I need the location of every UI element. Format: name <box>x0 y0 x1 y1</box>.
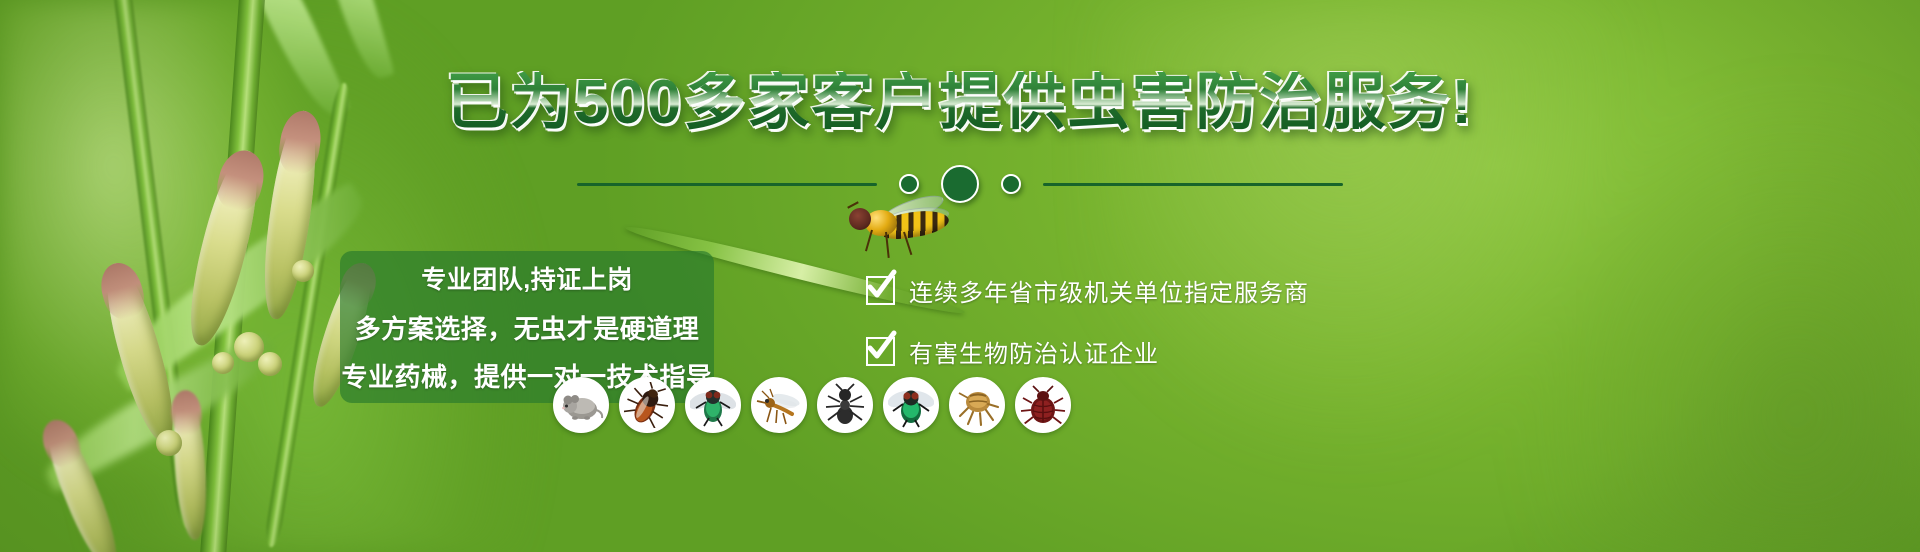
greenbottle-fly-icon[interactable] <box>883 377 939 433</box>
divider-line-right <box>1043 183 1343 186</box>
mouse-icon[interactable] <box>553 377 609 433</box>
cockroach-icon[interactable] <box>619 377 675 433</box>
claim-line-2: 多方案选择，无虫才是硬道理 <box>355 309 700 346</box>
pest-icon-strip <box>553 377 1071 433</box>
pest-control-hero-banner: 已为500多家客户提供虫害防治服务! 专业团队,持证上岗 多方案选择，无虫才是硬… <box>0 0 1920 552</box>
checklist-item: 连续多年省市级机关单位指定服务商 <box>866 273 1309 308</box>
checklist-item-label: 连续多年省市级机关单位指定服务商 <box>909 273 1309 308</box>
hoverfly-icon <box>845 198 965 264</box>
checklist-item: 有害生物防治认证企业 <box>866 334 1309 369</box>
claim-line-1: 专业团队,持证上岗 <box>421 260 632 296</box>
mosquito-icon[interactable] <box>751 377 807 433</box>
divider-dot-small-right <box>1001 174 1021 194</box>
certification-checklist: 连续多年省市级机关单位指定服务商 有害生物防治认证企业 <box>866 273 1309 369</box>
bedbug-icon[interactable] <box>1015 377 1071 433</box>
divider-dot-small-left <box>899 174 919 194</box>
checklist-item-label: 有害生物防治认证企业 <box>909 334 1159 369</box>
divider-line-left <box>577 183 877 186</box>
flea-icon[interactable] <box>949 377 1005 433</box>
page-title: 已为500多家客户提供虫害防治服务! <box>0 72 1920 134</box>
check-square-icon <box>866 276 895 305</box>
ant-icon[interactable] <box>817 377 873 433</box>
housefly-icon[interactable] <box>685 377 741 433</box>
check-square-icon <box>866 337 895 366</box>
